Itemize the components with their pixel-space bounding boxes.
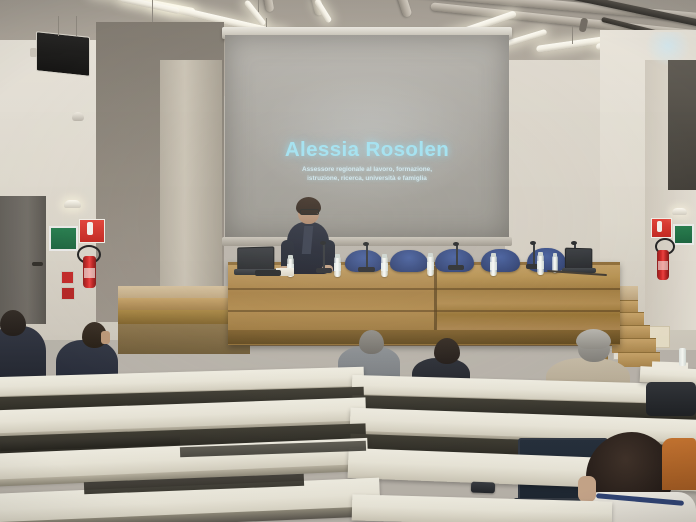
water-bottle-cap-icon xyxy=(288,255,293,259)
fire-extinguisher-sign-right-pictogram xyxy=(657,221,662,232)
wall-sign-small xyxy=(61,271,74,284)
light-hanger-wire xyxy=(152,0,153,22)
microphone-stem xyxy=(533,243,535,265)
podium-base xyxy=(228,330,620,344)
microphone-head-icon xyxy=(453,242,459,246)
person-front-right-hand xyxy=(578,476,596,502)
person-left-second-face xyxy=(101,331,110,344)
speaker-hanger-wire xyxy=(76,16,77,36)
microphone-base xyxy=(358,267,375,272)
water-bottle-cap-icon xyxy=(553,253,557,257)
ceiling-dome-camera-icon xyxy=(72,112,84,121)
fire-extinguisher-sign-pictogram xyxy=(87,222,93,235)
stage-step-left xyxy=(118,298,236,310)
microphone-stem xyxy=(456,244,458,266)
microphone-stem xyxy=(323,243,325,269)
wall-call-point[interactable] xyxy=(61,287,75,300)
emergency-exit-sign-right xyxy=(673,224,694,245)
water-bottle-label xyxy=(334,263,341,271)
wall-pillar xyxy=(160,60,222,310)
slide-subtitle: Assessore regionale al lavoro, formazion… xyxy=(245,166,489,183)
slide-title: Alessia Rosolen xyxy=(225,138,509,162)
stage-step-left-lower xyxy=(118,310,236,324)
water-bottle-cap-icon xyxy=(428,253,433,257)
water-bottle-cap-icon xyxy=(491,253,496,257)
microphone-head-icon xyxy=(363,242,369,246)
water-bottle-label xyxy=(490,262,497,270)
microphone-head-icon xyxy=(571,241,577,245)
water-bottle-cap-icon xyxy=(538,252,543,256)
water-bottle-label xyxy=(537,261,544,269)
chair-orange-right xyxy=(662,438,696,490)
person-right-beige-hair xyxy=(576,329,611,349)
wall-light-right-icon xyxy=(672,208,687,215)
microphone-head-icon xyxy=(530,241,536,245)
stage-chair xyxy=(390,250,428,272)
light-hanger-wire xyxy=(258,0,259,12)
desk-right-bottle xyxy=(679,348,686,366)
water-bottle-cap-icon xyxy=(335,254,340,258)
podium-seam xyxy=(228,310,620,312)
fire-extinguisher-right-label xyxy=(658,261,668,270)
door-handle-icon[interactable] xyxy=(32,262,43,266)
emergency-exit-sign xyxy=(49,226,78,251)
podium-device-dark xyxy=(255,270,281,276)
chair-right-dark xyxy=(646,382,696,416)
microphone-base xyxy=(448,265,464,270)
microphone-head-icon xyxy=(320,241,326,245)
smartphone[interactable] xyxy=(471,482,495,494)
corridor-doorway xyxy=(668,60,696,190)
water-bottle-label xyxy=(381,263,388,271)
projection-screen-glow xyxy=(225,35,509,239)
wall-loudspeaker-icon xyxy=(36,31,90,77)
microphone-stem xyxy=(366,244,368,268)
person-left-front-head xyxy=(0,310,26,336)
wall-light-fixture-icon xyxy=(64,200,81,208)
slide-subtitle-line-1: Assessore regionale al lavoro, formazion… xyxy=(245,166,489,175)
stage-chair xyxy=(481,249,520,272)
speaker-glasses-icon xyxy=(300,209,319,215)
speaker-mount-bracket xyxy=(30,48,37,57)
slide-subtitle-line-2: istruzione, ricerca, università e famigl… xyxy=(245,175,489,184)
water-bottle-label xyxy=(427,262,434,270)
lecture-hall-photo: Alessia Rosolen Assessore regionale al l… xyxy=(0,0,696,522)
door-left[interactable] xyxy=(0,196,46,324)
person-center-dark-head xyxy=(434,338,460,364)
water-bottle-cap-icon xyxy=(382,254,387,258)
podium-seam xyxy=(228,288,620,290)
fire-extinguisher-label xyxy=(84,268,95,278)
microphone-base xyxy=(316,268,332,273)
person-center-grey-head xyxy=(359,330,384,354)
speaker-hanger-wire xyxy=(58,16,59,36)
light-hanger-wire xyxy=(572,26,573,44)
